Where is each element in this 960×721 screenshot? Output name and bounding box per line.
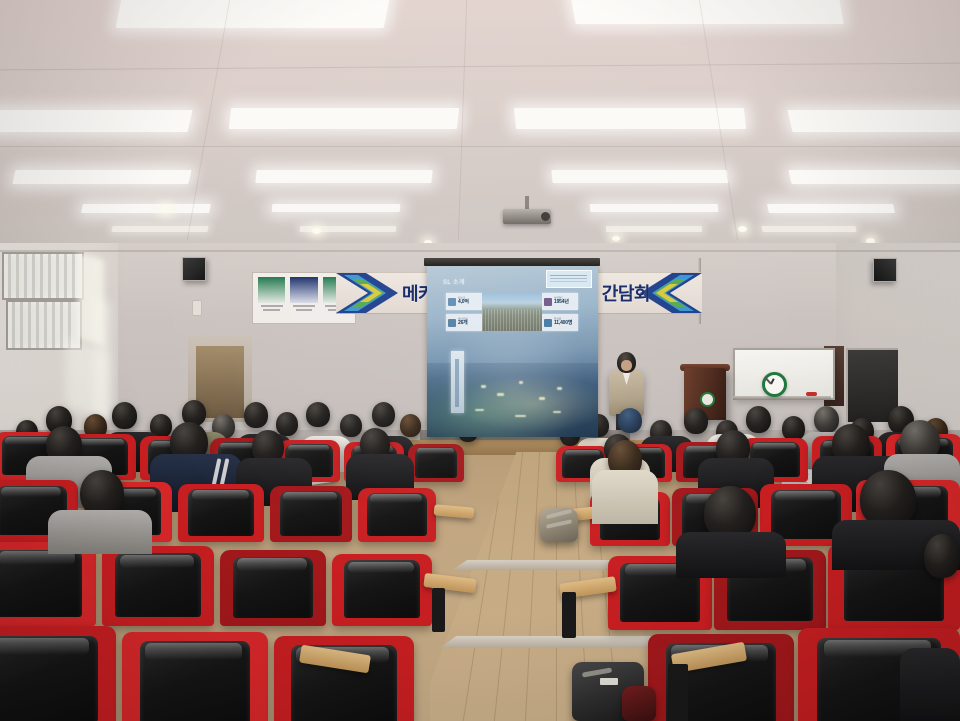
ceiling-light-panel [12, 170, 191, 184]
ceiling-light-panel [229, 108, 459, 129]
projector-mount [525, 196, 529, 210]
ceiling-light-panel [514, 108, 746, 129]
auditorium-seat[interactable] [274, 636, 414, 721]
armrest-post [668, 664, 688, 721]
projector-lens-icon [541, 212, 550, 221]
screen-housing [424, 258, 600, 266]
ceiling-light-panel [111, 226, 208, 232]
ceiling-light-panel [761, 226, 856, 232]
slide-popup-window [546, 270, 592, 288]
slide-stat-value: 4,0억 [458, 300, 469, 305]
slide-stat-value: 1954년 [554, 300, 569, 305]
wall-speaker-icon [873, 258, 897, 282]
slide-stat-tile: 자본금 4,0억 [446, 293, 482, 310]
auditorium-seat[interactable] [0, 626, 116, 721]
ceiling-downlight [612, 236, 620, 241]
auditorium-seat[interactable] [270, 486, 352, 542]
ceiling-downlight [160, 206, 171, 213]
ceiling-light-panel [116, 0, 393, 28]
audience-head [306, 402, 330, 427]
backpack[interactable] [622, 686, 656, 721]
poster-panel [258, 277, 285, 319]
auditorium-seat[interactable] [178, 484, 264, 542]
audience-head-with-beanie [618, 408, 642, 433]
ceiling-light-panel [767, 204, 895, 213]
wall-sign [192, 300, 202, 316]
slide-tile-column-right: 설립연도 1954년 임직원 11,400명 [542, 293, 578, 331]
ceiling-downlight [312, 228, 321, 234]
slide-title: SL 소개 [443, 277, 465, 286]
audience-body [592, 470, 658, 524]
ceiling-light-panel [788, 170, 960, 184]
audience-head [276, 412, 298, 436]
banner-chevron-left-icon [336, 273, 408, 313]
audience-head [746, 406, 771, 433]
auditorium-seat[interactable] [0, 542, 96, 626]
capital-icon [448, 298, 456, 306]
audience-head [244, 402, 268, 428]
slide-stat-tile: 임직원 11,400명 [542, 314, 578, 331]
building-icon [544, 298, 552, 306]
ceiling-light-panel [255, 170, 432, 183]
audience-head [400, 414, 421, 437]
slide-stat-tiles: 자본금 4,0억 생산거점 26개 [446, 293, 580, 331]
aisle-step [440, 636, 670, 648]
poster-image [290, 277, 317, 303]
slide-signage-tower [451, 351, 464, 413]
slide-tile-column-left: 자본금 4,0억 생산거점 26개 [446, 293, 482, 331]
ceiling-light-panel [590, 204, 719, 212]
slide-aerial-photo [482, 293, 542, 331]
slide-stat-value: 26개 [458, 321, 468, 326]
audience-head [814, 406, 839, 433]
audience-head [684, 408, 708, 434]
ceiling-light-panel [568, 0, 843, 24]
ceiling-downlight [738, 226, 747, 232]
slide-stat-tile: 설립연도 1954년 [542, 293, 578, 310]
ceiling-light-panel [272, 204, 401, 212]
ceiling-light-panel [0, 110, 193, 132]
backpack[interactable] [540, 508, 578, 542]
armrest-post [432, 588, 445, 632]
auditorium-seat[interactable] [122, 632, 268, 721]
audience-head [112, 402, 137, 429]
slide-surface: SL 소개 자본금 4,0억 생산거점 26개 [427, 265, 598, 437]
poster-image [258, 277, 285, 303]
projection-screen[interactable]: SL 소개 자본금 4,0억 생산거점 26개 [427, 265, 598, 437]
ceiling-light-panel [787, 110, 960, 132]
auditorium-seat[interactable] [102, 546, 214, 626]
audience-body [676, 532, 786, 578]
presenter-face [621, 360, 632, 371]
window-upper [2, 252, 84, 300]
audience-head [372, 402, 395, 427]
people-icon [544, 319, 552, 327]
lecture-hall-photo: 메카트로 행 간담회 SL 소개 자본금 4,0억 [0, 0, 960, 721]
ceiling-light-panel [606, 226, 702, 232]
auditorium-seat[interactable] [332, 554, 432, 626]
auditorium-seat[interactable] [220, 550, 326, 626]
audience-body [900, 648, 960, 721]
ceiling [0, 0, 960, 258]
slide-stat-value: 11,400명 [554, 321, 572, 326]
slide-stat-tile: 생산거점 26개 [446, 314, 482, 331]
wall-speaker-icon [182, 257, 206, 281]
ceiling-light-panel [551, 170, 728, 183]
audience-head [340, 414, 362, 437]
factory-icon [448, 319, 456, 327]
auditorium-seat[interactable] [408, 444, 464, 482]
armrest-post [562, 592, 576, 638]
auditorium-seat[interactable] [358, 488, 436, 542]
poster-panel [290, 277, 317, 319]
audience-head [924, 534, 960, 578]
audience-body [48, 510, 152, 554]
